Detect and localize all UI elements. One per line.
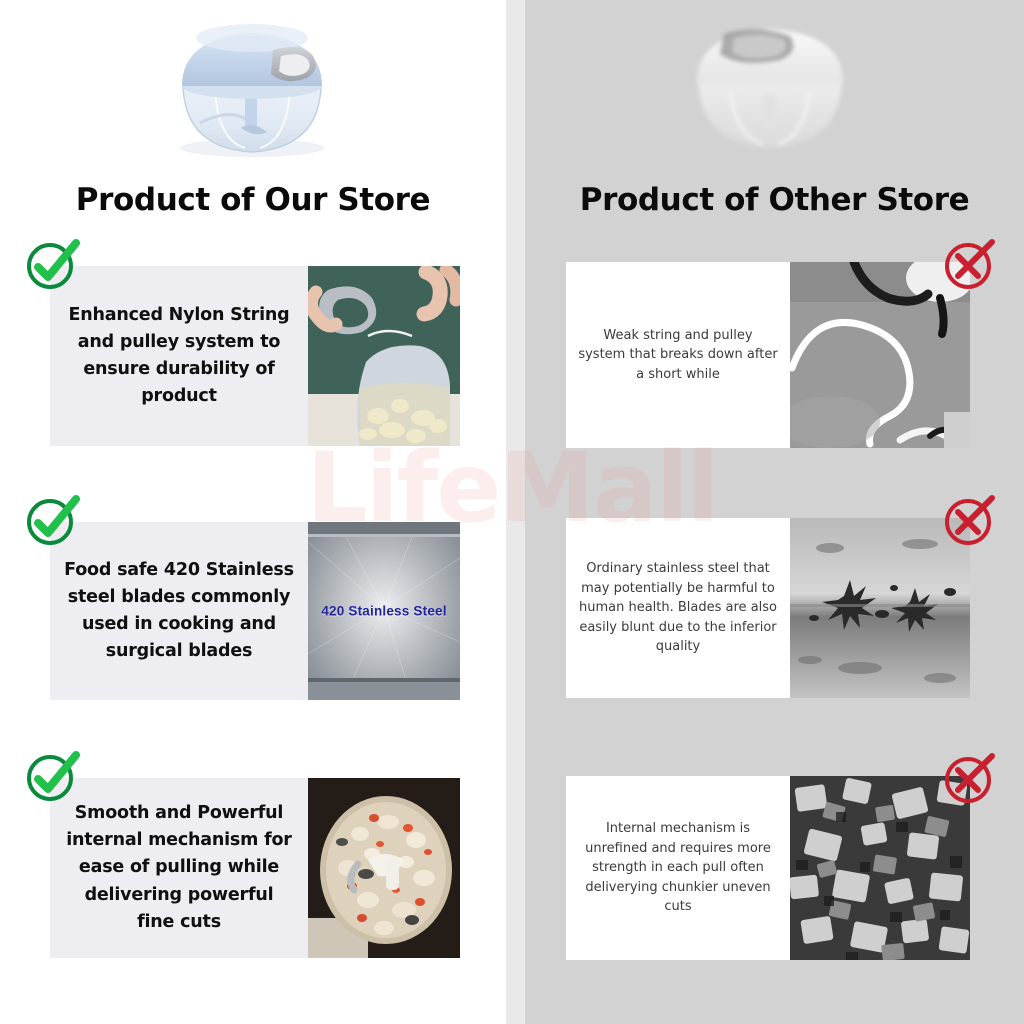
steel-grade-label: 420 Stainless Steel xyxy=(308,604,460,619)
panel-divider xyxy=(506,0,525,1024)
manual-food-chopper-faded-icon xyxy=(668,10,873,165)
feature-image-ours-2: 420 Stainless Steel xyxy=(308,522,460,700)
feature-text-ours-2: Food safe 420 Stainless steel blades com… xyxy=(50,522,308,700)
feature-text-theirs-2: Ordinary stainless steel that may potent… xyxy=(566,518,790,698)
hero-product-image-theirs xyxy=(668,10,873,165)
feature-image-ours-3 xyxy=(308,778,460,958)
hand-pulling-chopper-handle-icon xyxy=(308,266,460,446)
cross-circle-icon-1 xyxy=(942,236,998,292)
hero-product-image-ours xyxy=(155,8,350,168)
comparison-infographic: Product of Our Store Product of Other St… xyxy=(0,0,1024,1024)
finely-chopped-vegetables-icon xyxy=(308,778,460,958)
feature-card-ours-3: Smooth and Powerful internal mechanism f… xyxy=(50,778,460,958)
feature-card-ours-1: Enhanced Nylon String and pulley system … xyxy=(50,266,460,446)
page-title-ours: Product of Our Store xyxy=(0,182,506,218)
cross-circle-icon-3 xyxy=(942,750,998,806)
feature-card-theirs-1: Weak string and pulley system that break… xyxy=(566,262,970,448)
feature-text-theirs-1: Weak string and pulley system that break… xyxy=(566,262,790,448)
feature-text-ours-3: Smooth and Powerful internal mechanism f… xyxy=(50,778,308,958)
feature-text-theirs-3: Internal mechanism is unrefined and requ… xyxy=(566,776,790,960)
feature-card-theirs-2: Ordinary stainless steel that may potent… xyxy=(566,518,970,698)
feature-image-ours-1 xyxy=(308,266,460,446)
cross-circle-icon-2 xyxy=(942,492,998,548)
page-title-theirs: Product of Other Store xyxy=(525,182,1024,218)
check-circle-icon-1 xyxy=(24,236,80,292)
manual-food-chopper-icon xyxy=(155,8,350,168)
feature-card-theirs-3: Internal mechanism is unrefined and requ… xyxy=(566,776,970,960)
feature-card-ours-2: Food safe 420 Stainless steel blades com… xyxy=(50,522,460,700)
check-circle-icon-2 xyxy=(24,492,80,548)
check-circle-icon-3 xyxy=(24,748,80,804)
feature-text-ours-1: Enhanced Nylon String and pulley system … xyxy=(50,266,308,446)
